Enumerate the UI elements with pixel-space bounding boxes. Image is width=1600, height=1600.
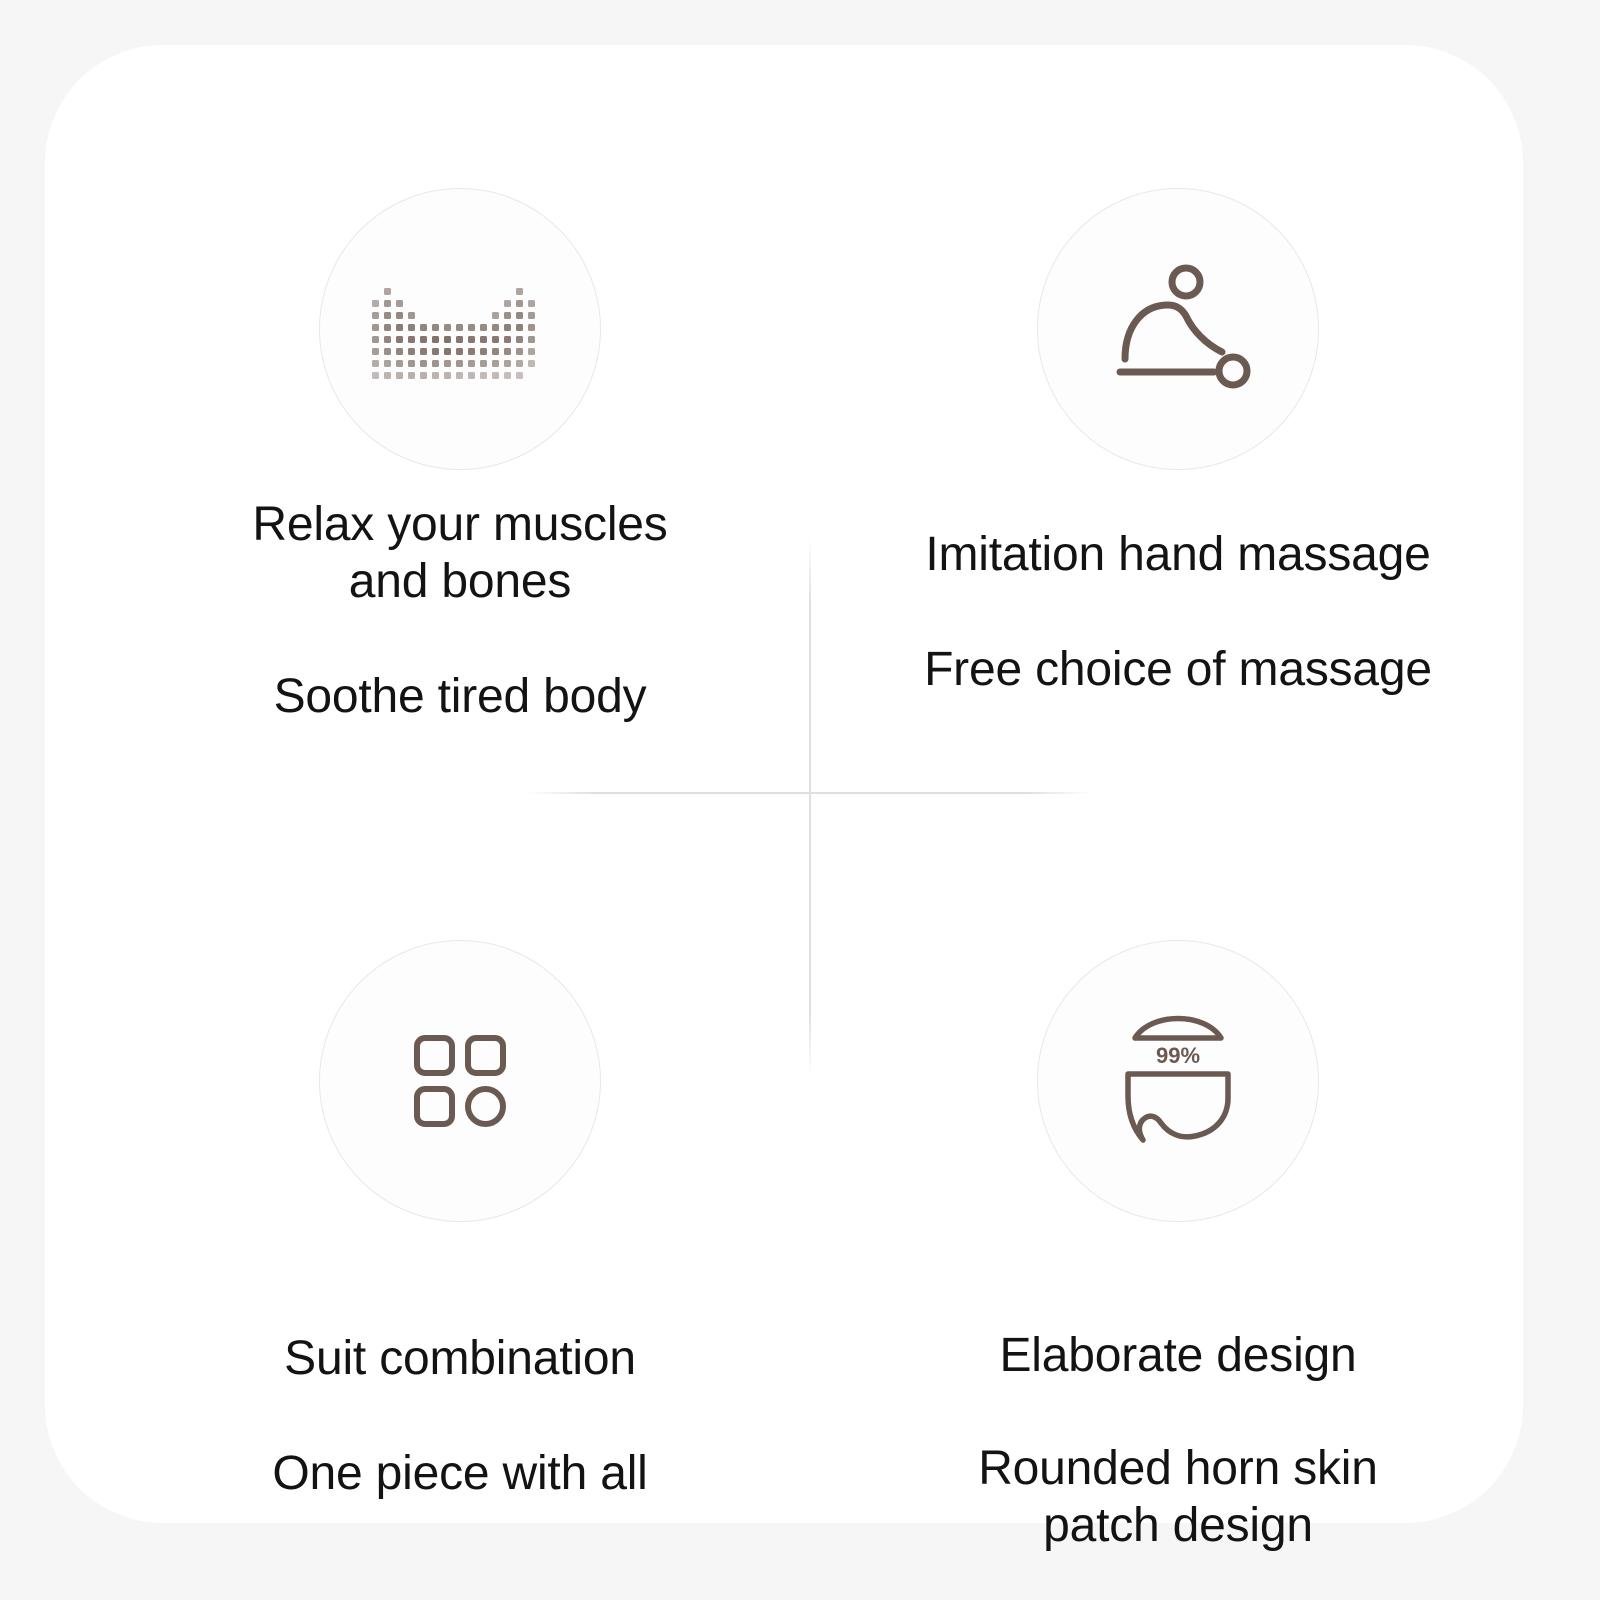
feature-secondary-label: Soothe tired body: [274, 668, 647, 725]
feature-item-suit-combination: Suit combination One piece with all: [110, 940, 810, 1502]
feature-grid-page: Relax your muscles and bones Soothe tire…: [0, 0, 1600, 1600]
grid-modules-icon: [412, 1033, 508, 1129]
masseur-person-icon: [1098, 259, 1258, 399]
feature-secondary-label: Free choice of massage: [924, 641, 1432, 698]
feature-item-relax-muscles: Relax your muscles and bones Soothe tire…: [110, 188, 810, 725]
feature-primary-label: Imitation hand massage: [925, 526, 1430, 583]
feature-primary-label: Elaborate design: [999, 1327, 1356, 1384]
feature-item-elaborate-design: 99% Elaborate design Rounded horn skin p…: [828, 940, 1528, 1554]
feature-labels-relax-muscles: Relax your muscles and bones Soothe tire…: [110, 470, 810, 725]
feature-secondary-label: One piece with all: [272, 1445, 647, 1502]
icon-circle-imitation-hand-massage: [1037, 188, 1319, 470]
icon-circle-relax-muscles: [319, 188, 601, 470]
feature-labels-imitation-hand-massage: Imitation hand massage Free choice of ma…: [828, 470, 1528, 698]
feature-primary-label: Relax your muscles and bones: [252, 496, 667, 610]
dot-matrix-cushion-icon: [370, 274, 550, 384]
feature-item-imitation-hand-massage: Imitation hand massage Free choice of ma…: [828, 188, 1528, 698]
feature-labels-suit-combination: Suit combination One piece with all: [110, 1222, 810, 1502]
rounded-horn-patch-icon: 99%: [1103, 1006, 1253, 1156]
icon-badge-text: 99%: [1156, 1043, 1200, 1068]
divider-horizontal: [527, 792, 1093, 794]
icon-circle-suit-combination: [319, 940, 601, 1222]
icon-circle-elaborate-design: 99%: [1037, 940, 1319, 1222]
feature-card: Relax your muscles and bones Soothe tire…: [45, 45, 1523, 1523]
feature-secondary-label: Rounded horn skin patch design: [978, 1440, 1378, 1554]
feature-primary-label: Suit combination: [284, 1330, 636, 1387]
feature-labels-elaborate-design: Elaborate design Rounded horn skin patch…: [828, 1222, 1528, 1554]
